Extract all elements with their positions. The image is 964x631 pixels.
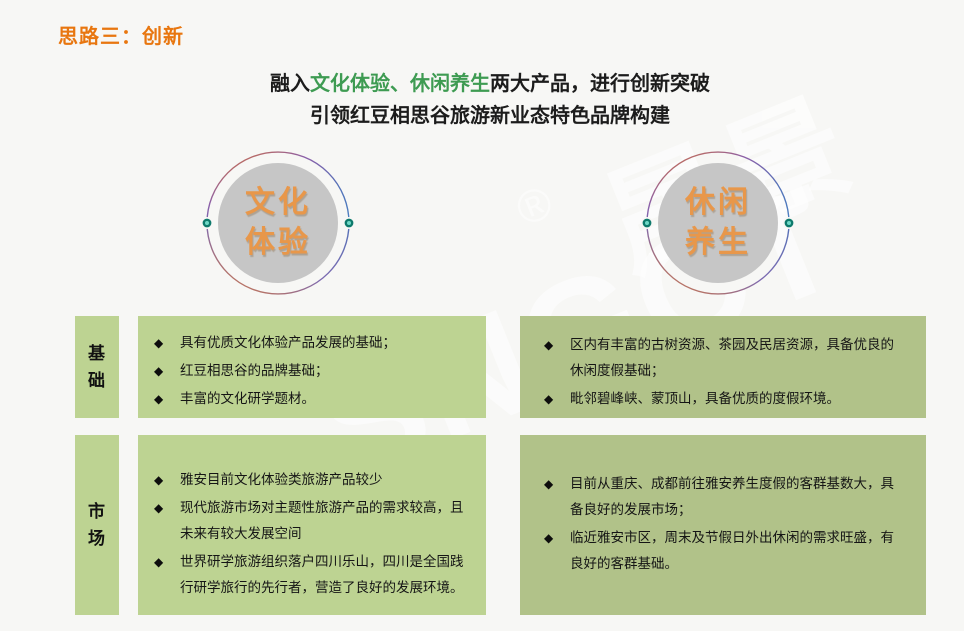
slide-canvas: SNGCT 晟景 ® 思路三：创新 融入文化体验、休闲养生两大产品，进行创新突破… xyxy=(0,0,964,631)
concept-circle-culture: 文化 体验 xyxy=(188,133,368,313)
list-item: ◆ 雅安目前文化体验类旅游产品较少 xyxy=(146,467,464,493)
list-item-text: 具有优质文化体验产品发展的基础； xyxy=(180,335,396,350)
bullet-list: ◆ 目前从重庆、成都前往雅安养生度假的客群基数大，具备良好的发展市场； ◆ 临近… xyxy=(536,471,902,577)
subtitle-line1-post: 两大产品，进行创新突破 xyxy=(490,73,710,95)
row-label-char-2: 场 xyxy=(88,525,106,552)
list-item: ◆ 现代旅游市场对主题性旅游产品的需求较高，且未来有较大发展空间 xyxy=(146,495,464,547)
subtitle-line1-highlight: 文化体验、休闲养生 xyxy=(310,73,490,95)
circle-label-line1: 休闲 xyxy=(685,183,751,223)
bullet-icon: ◆ xyxy=(154,495,163,521)
list-item-text: 雅安目前文化体验类旅游产品较少 xyxy=(180,472,383,487)
list-item-text: 临近雅安市区，周末及节假日外出休闲的需求旺盛，有良好的客群基础。 xyxy=(570,530,894,571)
row-label-market: 市 场 xyxy=(75,435,119,615)
list-item-text: 世界研学旅游组织落户四川乐山，四川是全国践行研学旅行的先行者，营造了良好的发展环… xyxy=(180,554,464,595)
concept-circle-leisure: 休闲 养生 xyxy=(628,133,808,313)
bullet-icon: ◆ xyxy=(544,386,553,412)
subtitle-line-2: 引领红豆相思谷旅游新业态特色品牌构建 xyxy=(150,100,830,132)
bullet-list: ◆ 区内有丰富的古树资源、茶园及民居资源，具备优良的休闲度假基础； ◆ 毗邻碧峰… xyxy=(536,332,902,412)
list-item-text: 目前从重庆、成都前往雅安养生度假的客群基数大，具备良好的发展市场； xyxy=(570,476,894,517)
section-heading: 思路三：创新 xyxy=(58,20,184,49)
row-label-char-1: 基 xyxy=(88,340,106,367)
circle-label-line2: 体验 xyxy=(245,223,311,263)
list-item: ◆ 世界研学旅游组织落户四川乐山，四川是全国践行研学旅行的先行者，营造了良好的发… xyxy=(146,549,464,601)
subtitle-line1-pre: 融入 xyxy=(270,73,310,95)
row-label-char-2: 础 xyxy=(88,367,106,394)
circle-label-leisure: 休闲 养生 xyxy=(628,133,808,313)
list-item: ◆ 区内有丰富的古树资源、茶园及民居资源，具备优良的休闲度假基础； xyxy=(536,332,902,384)
panel-market-left: ◆ 雅安目前文化体验类旅游产品较少 ◆ 现代旅游市场对主题性旅游产品的需求较高，… xyxy=(138,435,486,615)
slide-subtitle: 融入文化体验、休闲养生两大产品，进行创新突破 引领红豆相思谷旅游新业态特色品牌构… xyxy=(150,68,830,132)
panel-foundation-left: ◆ 具有优质文化体验产品发展的基础； ◆ 红豆相思谷的品牌基础； ◆ 丰富的文化… xyxy=(138,316,486,418)
list-item: ◆ 目前从重庆、成都前往雅安养生度假的客群基数大，具备良好的发展市场； xyxy=(536,471,902,523)
list-item: ◆ 丰富的文化研学题材。 xyxy=(146,386,464,412)
list-item-text: 现代旅游市场对主题性旅游产品的需求较高，且未来有较大发展空间 xyxy=(180,500,464,541)
bullet-icon: ◆ xyxy=(154,330,163,356)
bullet-icon: ◆ xyxy=(544,332,553,358)
subtitle-line-1: 融入文化体验、休闲养生两大产品，进行创新突破 xyxy=(150,68,830,100)
bullet-icon: ◆ xyxy=(544,471,553,497)
bullet-list: ◆ 雅安目前文化体验类旅游产品较少 ◆ 现代旅游市场对主题性旅游产品的需求较高，… xyxy=(146,467,464,601)
list-item-text: 毗邻碧峰峡、蒙顶山，具备优质的度假环境。 xyxy=(570,391,840,406)
row-label-char-1: 市 xyxy=(88,498,106,525)
list-item: ◆ 红豆相思谷的品牌基础； xyxy=(146,358,464,384)
list-item-text: 丰富的文化研学题材。 xyxy=(180,391,315,406)
circle-label-culture: 文化 体验 xyxy=(188,133,368,313)
list-item-text: 区内有丰富的古树资源、茶园及民居资源，具备优良的休闲度假基础； xyxy=(570,337,894,378)
bullet-icon: ◆ xyxy=(154,549,163,575)
list-item: ◆ 临近雅安市区，周末及节假日外出休闲的需求旺盛，有良好的客群基础。 xyxy=(536,525,902,577)
bullet-list: ◆ 具有优质文化体验产品发展的基础； ◆ 红豆相思谷的品牌基础； ◆ 丰富的文化… xyxy=(146,330,464,412)
bullet-icon: ◆ xyxy=(154,358,163,384)
list-item-text: 红豆相思谷的品牌基础； xyxy=(180,363,329,378)
circle-label-line2: 养生 xyxy=(685,223,751,263)
panel-market-right: ◆ 目前从重庆、成都前往雅安养生度假的客群基数大，具备良好的发展市场； ◆ 临近… xyxy=(520,435,926,615)
bullet-icon: ◆ xyxy=(154,467,163,493)
list-item: ◆ 具有优质文化体验产品发展的基础； xyxy=(146,330,464,356)
row-label-foundation: 基 础 xyxy=(75,316,119,418)
list-item: ◆ 毗邻碧峰峡、蒙顶山，具备优质的度假环境。 xyxy=(536,386,902,412)
bullet-icon: ◆ xyxy=(544,525,553,551)
panel-foundation-right: ◆ 区内有丰富的古树资源、茶园及民居资源，具备优良的休闲度假基础； ◆ 毗邻碧峰… xyxy=(520,316,926,418)
bullet-icon: ◆ xyxy=(154,386,163,412)
circle-label-line1: 文化 xyxy=(245,183,311,223)
